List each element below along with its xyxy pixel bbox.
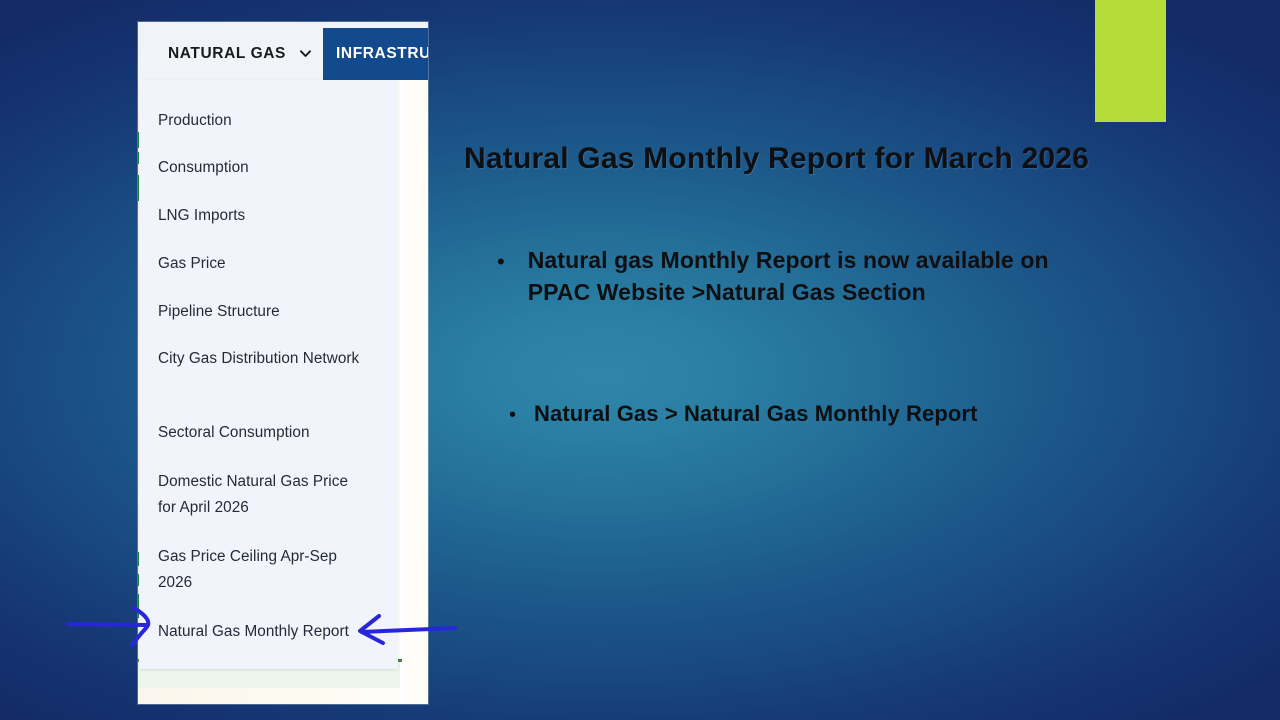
menu-item-sectoral-consumption[interactable]: Sectoral Consumption: [158, 420, 370, 446]
natural-gas-dropdown-menu: Production Consumption LNG Imports Gas P…: [139, 80, 398, 669]
bullet-item-1: • Natural gas Monthly Report is now avai…: [497, 244, 1097, 309]
website-screenshot-region: NATURAL GAS INFRASTRU Production Consump…: [138, 22, 428, 704]
bullet-item-1-text: Natural gas Monthly Report is now availa…: [528, 244, 1097, 309]
menu-item-production[interactable]: Production: [158, 108, 370, 134]
menu-item-gas-price-ceiling[interactable]: Gas Price Ceiling Apr-Sep 2026: [158, 544, 370, 597]
site-navigation-bar: NATURAL GAS INFRASTRU: [138, 22, 428, 80]
bullet-item-2: • Natural Gas > Natural Gas Monthly Repo…: [509, 400, 1109, 429]
annotation-arrow-left: [68, 608, 148, 645]
menu-item-natural-gas-monthly-report[interactable]: Natural Gas Monthly Report: [158, 619, 370, 645]
menu-item-gas-price[interactable]: Gas Price: [158, 251, 370, 277]
menu-item-lng-imports[interactable]: LNG Imports: [158, 203, 370, 229]
nav-tab-infrastructure-label: INFRASTRU: [336, 45, 428, 63]
menu-item-consumption[interactable]: Consumption: [158, 155, 370, 181]
nav-tab-natural-gas[interactable]: NATURAL GAS: [151, 28, 326, 80]
slide-title: Natural Gas Monthly Report for March 202…: [464, 142, 1164, 176]
bullet-item-2-text: Natural Gas > Natural Gas Monthly Report: [534, 400, 977, 429]
menu-item-domestic-natural-gas-price[interactable]: Domestic Natural Gas Price for April 202…: [158, 469, 370, 522]
nav-tab-infrastructure[interactable]: INFRASTRU: [323, 28, 428, 80]
bullet-marker: •: [509, 405, 516, 425]
menu-item-pipeline-structure[interactable]: Pipeline Structure: [158, 299, 370, 325]
chevron-down-icon: [299, 47, 312, 60]
presentation-slide: NATURAL GAS INFRASTRU Production Consump…: [0, 0, 1280, 720]
nav-tab-natural-gas-label: NATURAL GAS: [168, 45, 286, 63]
menu-item-city-gas-distribution-network[interactable]: City Gas Distribution Network: [158, 346, 370, 372]
accent-rectangle: [1095, 0, 1166, 122]
map-road-vertical: [400, 80, 404, 704]
bullet-marker: •: [497, 251, 505, 273]
